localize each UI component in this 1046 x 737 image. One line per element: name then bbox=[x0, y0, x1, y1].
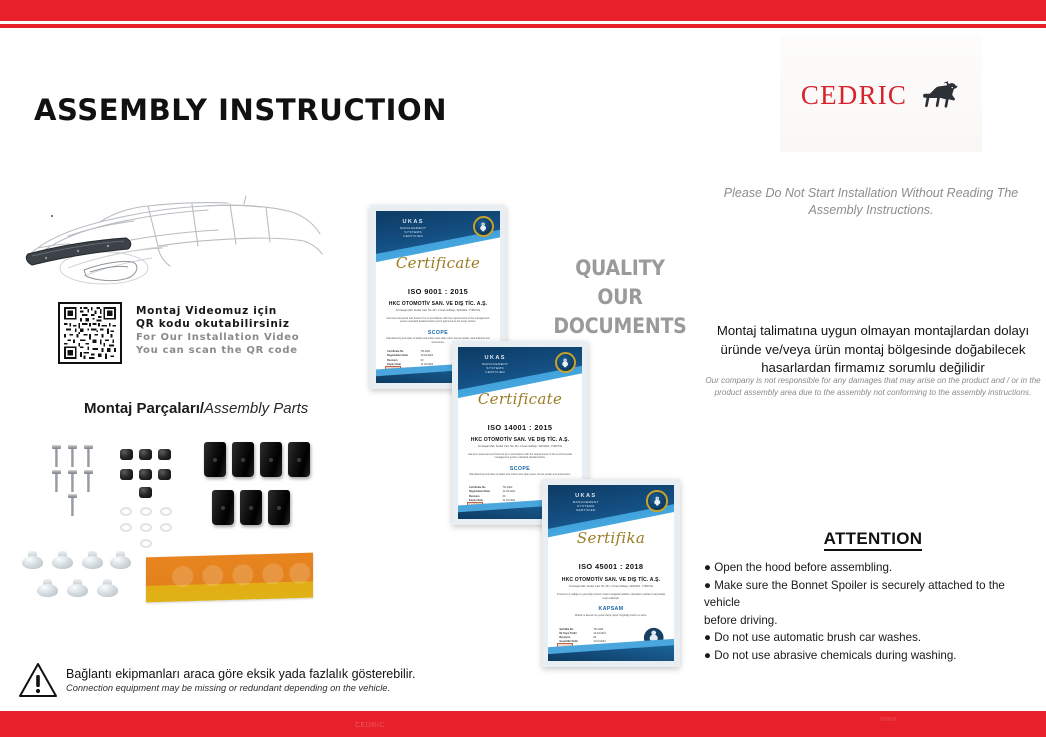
cert-company: HKC OTOMOTİV SAN. VE DIŞ TİC. A.Ş. bbox=[458, 437, 582, 443]
qr-line3-en: For Our Installation Video bbox=[136, 331, 299, 344]
washer-icon bbox=[120, 507, 132, 516]
ukas-bot: CERTIFIED bbox=[564, 508, 607, 512]
cert-heading: Certificate bbox=[376, 254, 500, 272]
screw-icon bbox=[68, 445, 77, 467]
liability-notice-tr: Montaj talimatına uygun olmayan montajla… bbox=[700, 322, 1046, 378]
screw-icon bbox=[68, 494, 77, 516]
ukas-mark: UKAS MANAGEMENT SYSTEMS CERTIFIED bbox=[474, 355, 516, 374]
attention-item: ● Do not use abrasive chemicals during w… bbox=[704, 647, 1030, 665]
washer-icon bbox=[140, 539, 152, 548]
assembly-parts-diagram bbox=[16, 437, 336, 612]
vehicle-illustration bbox=[8, 186, 328, 291]
washer-icon bbox=[140, 507, 152, 516]
cert-scope-label: KAPSAM bbox=[548, 606, 674, 612]
cert-address: Kızılcaşar Mah. Serdar Cad. No: 28 / 1 İ… bbox=[465, 445, 574, 448]
rubber-plug-icon bbox=[37, 579, 58, 597]
nut-icon bbox=[120, 449, 133, 460]
screw-icon bbox=[68, 470, 77, 492]
cert-body: has been assessed and found to be in acc… bbox=[385, 317, 492, 324]
qr-line4-en: You can scan the QR code bbox=[136, 344, 299, 357]
bracket-icon bbox=[232, 442, 254, 477]
nut-icon bbox=[120, 469, 133, 480]
cert-address: Kızılcaşar Mah. Serdar Cad. No: 28 / 1 İ… bbox=[383, 309, 492, 312]
attention-item: ● Do not use automatic brush car washes. bbox=[704, 629, 1030, 647]
screw-icon bbox=[52, 470, 61, 492]
cert-scope-text: Manufacturing and sales of plastic and r… bbox=[468, 473, 572, 476]
ukas-bot: CERTIFIED bbox=[392, 234, 434, 238]
top-red-band bbox=[0, 0, 1046, 21]
eagle-seal-icon bbox=[646, 490, 667, 511]
assembly-parts-title-tr: Montaj Parçaları/ bbox=[84, 400, 204, 417]
washer-icon bbox=[160, 507, 172, 516]
nut-icon bbox=[139, 449, 152, 460]
cert-scope-label: SCOPE bbox=[458, 466, 582, 472]
attention-item: ● Open the hood before assembling. bbox=[704, 559, 1030, 577]
rubber-plug-icon bbox=[22, 551, 43, 569]
attention-title-text: ATTENTION bbox=[824, 529, 923, 551]
washer-icon bbox=[120, 523, 132, 532]
warning-text-tr: Bağlantı ekipmanları araca göre eksik ya… bbox=[66, 667, 416, 682]
screw-icon bbox=[84, 445, 93, 467]
rubber-plug-icon bbox=[67, 579, 88, 597]
quality-line2: OUR DOCUMENTS bbox=[540, 283, 700, 341]
washer-icon bbox=[160, 523, 172, 532]
nut-icon bbox=[139, 469, 152, 480]
attention-title: ATTENTION bbox=[700, 529, 1046, 549]
ukas-top: UKAS bbox=[564, 493, 607, 499]
warning-text-en: Connection equipment may be missing or r… bbox=[66, 682, 416, 694]
assembly-parts-title-en: Assembly Parts bbox=[204, 400, 308, 417]
nut-icon bbox=[139, 487, 152, 498]
eagle-seal-icon bbox=[555, 352, 576, 373]
cert-body: has been assessed and found to be in acc… bbox=[467, 453, 574, 460]
liability-notice-en: Our company is not responsible for any d… bbox=[700, 375, 1046, 398]
cert-body: firmasının iş sağlığı ve güvenliği yönet… bbox=[557, 593, 665, 600]
washer-icon bbox=[140, 523, 152, 532]
certificate-iso45001[interactable]: UKAS MANAGEMENT SYSTEMS CERTIFIED Sertif… bbox=[542, 479, 680, 667]
cert-heading: Certificate bbox=[458, 390, 582, 408]
assembly-parts-title: Montaj Parçaları/Assembly Parts bbox=[84, 400, 308, 417]
rubber-plug-icon bbox=[52, 551, 73, 569]
bracket-icon bbox=[204, 442, 226, 477]
ukas-mark: UKAS MANAGEMENT SYSTEMS CERTIFIED bbox=[392, 219, 434, 238]
ukas-mid: MANAGEMENT SYSTEMS bbox=[564, 500, 607, 508]
brand-name: CEDRIC bbox=[801, 80, 907, 111]
cert-company: HKC OTOMOTİV SAN. VE DIŞ TİC. A.Ş. bbox=[548, 577, 674, 583]
ukas-mid: MANAGEMENT SYSTEMS bbox=[474, 362, 516, 370]
ukas-mark: UKAS MANAGEMENT SYSTEMS CERTIFIED bbox=[564, 493, 607, 512]
page-title: ASSEMBLY INSTRUCTION bbox=[34, 93, 447, 127]
please-read-notice: Please Do Not Start Installation Without… bbox=[706, 185, 1036, 219]
top-red-accent-line bbox=[0, 24, 1046, 28]
footer-ghost-text-2: www bbox=[880, 716, 897, 723]
warning-triangle-icon bbox=[18, 662, 58, 698]
cert-address: Kızılcaşar Mah. Serdar Cad. No: 28 / 1 İ… bbox=[556, 585, 667, 588]
bracket-icon bbox=[268, 490, 290, 525]
cert-company: HKC OTOMOTİV SAN. VE DIŞ TİC. A.Ş. bbox=[376, 301, 500, 307]
assembly-instruction-page: ASSEMBLY INSTRUCTION bbox=[0, 0, 1046, 737]
ukas-mid: MANAGEMENT SYSTEMS bbox=[392, 226, 434, 234]
cert-heading: Sertifika bbox=[548, 529, 674, 547]
cert-standard: ISO 45001 : 2018 bbox=[548, 562, 674, 571]
equipment-warning: Bağlantı ekipmanları araca göre eksik ya… bbox=[18, 662, 416, 698]
quality-line1: QUALITY bbox=[540, 254, 700, 283]
qr-line1-tr: Montaj Videomuz için bbox=[136, 305, 299, 318]
cert-scope-label: SCOPE bbox=[376, 330, 500, 336]
bottom-red-band bbox=[0, 711, 1046, 737]
qr-info-block: Montaj Videomuz için QR kodu okutabilirs… bbox=[58, 302, 299, 364]
eagle-seal-icon bbox=[473, 216, 494, 237]
cert-standard: ISO 9001 : 2015 bbox=[376, 287, 500, 296]
bracket-icon bbox=[260, 442, 282, 477]
rubber-plug-icon bbox=[82, 551, 103, 569]
cert-standard: ISO 14001 : 2015 bbox=[458, 423, 582, 432]
screw-icon bbox=[84, 470, 93, 492]
bracket-icon bbox=[212, 490, 234, 525]
cert-scope-text: Plastik ve kauçuk oto yedek parça, kaput… bbox=[558, 614, 664, 617]
nut-icon bbox=[158, 449, 171, 460]
ukas-bot: CERTIFIED bbox=[474, 370, 516, 374]
rubber-plug-icon bbox=[97, 579, 118, 597]
rubber-plug-icon bbox=[110, 551, 131, 569]
brand-logo: CEDRIC bbox=[780, 36, 982, 152]
adhesive-tape-strip bbox=[146, 553, 313, 603]
ukas-top: UKAS bbox=[392, 219, 434, 225]
nut-icon bbox=[158, 469, 171, 480]
attention-item: ● Make sure the Bonnet Spoiler is secure… bbox=[704, 577, 1030, 612]
qr-code-icon[interactable] bbox=[58, 302, 122, 364]
lion-icon bbox=[919, 81, 961, 111]
ukas-top: UKAS bbox=[474, 355, 516, 361]
screw-icon bbox=[52, 445, 61, 467]
bracket-icon bbox=[240, 490, 262, 525]
attention-item: before driving. bbox=[704, 612, 1030, 630]
footer-ghost-text: CEDRIC bbox=[355, 722, 385, 729]
attention-list: ● Open the hood before assembling. ● Mak… bbox=[704, 559, 1030, 665]
qr-line2-tr: QR kodu okutabilirsiniz bbox=[136, 318, 299, 331]
quality-heading: QUALITY OUR DOCUMENTS bbox=[540, 254, 700, 341]
bracket-icon bbox=[288, 442, 310, 477]
